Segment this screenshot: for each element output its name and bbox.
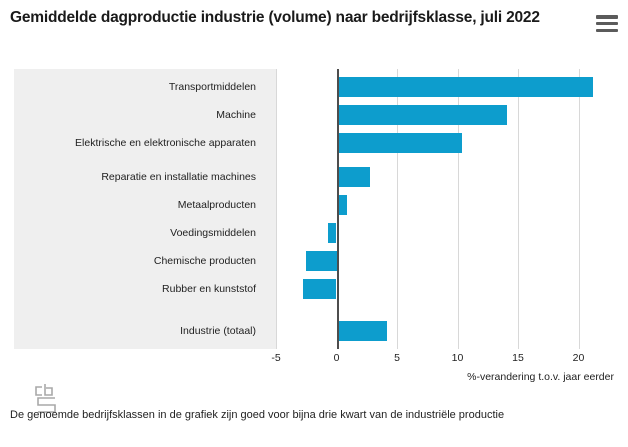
category-label: Chemische producten xyxy=(14,247,262,275)
bar-row: Transportmiddelen xyxy=(14,73,614,101)
bar[interactable] xyxy=(337,321,388,341)
bar-chart: TransportmiddelenMachineElektrische en e… xyxy=(14,69,614,349)
chart-page: Gemiddelde dagproductie industrie (volum… xyxy=(0,0,628,447)
bar-row: Metaalproducten xyxy=(14,191,614,219)
chart-header: Gemiddelde dagproductie industrie (volum… xyxy=(10,8,590,29)
zero-line xyxy=(337,69,339,349)
x-tick-label: 0 xyxy=(334,352,340,364)
bar[interactable] xyxy=(303,279,337,299)
x-tick-label: 5 xyxy=(394,352,400,364)
hamburger-menu-icon[interactable] xyxy=(596,15,618,32)
category-label: Elektrische en elektronische apparaten xyxy=(14,129,262,157)
bar[interactable] xyxy=(306,251,336,271)
bar-row: Chemische producten xyxy=(14,247,614,275)
bar[interactable] xyxy=(337,133,463,153)
x-axis-label: %-verandering t.o.v. jaar eerder xyxy=(467,371,614,383)
category-label: Reparatie en installatie machines xyxy=(14,163,262,191)
hamburger-line-3 xyxy=(596,29,618,33)
x-tick-label: -5 xyxy=(271,352,280,364)
hamburger-line-1 xyxy=(596,15,618,19)
bar-row: Machine xyxy=(14,101,614,129)
category-label: Voedingsmiddelen xyxy=(14,219,262,247)
x-tick-label: 20 xyxy=(573,352,585,364)
category-label: Transportmiddelen xyxy=(14,73,262,101)
x-tick-label: 10 xyxy=(452,352,464,364)
bar[interactable] xyxy=(328,223,336,243)
category-label: Machine xyxy=(14,101,262,129)
category-label: Rubber en kunststof xyxy=(14,275,262,303)
footnote: De genoemde bedrijfsklassen in de grafie… xyxy=(10,409,504,421)
x-tick-label: 15 xyxy=(512,352,524,364)
category-label: Industrie (totaal) xyxy=(14,317,262,345)
page-title: Gemiddelde dagproductie industrie (volum… xyxy=(10,8,590,29)
bar[interactable] xyxy=(337,105,508,125)
bar-row: Rubber en kunststof xyxy=(14,275,614,303)
hamburger-line-2 xyxy=(596,22,618,26)
x-axis-ticks: -50510152025 xyxy=(14,350,614,370)
bar-row: Voedingsmiddelen xyxy=(14,219,614,247)
bar-row: Reparatie en installatie machines xyxy=(14,163,614,191)
bar[interactable] xyxy=(337,77,594,97)
bar-row: Industrie (totaal) xyxy=(14,317,614,345)
bar-row: Elektrische en elektronische apparaten xyxy=(14,129,614,157)
category-label: Metaalproducten xyxy=(14,191,262,219)
bar[interactable] xyxy=(337,167,371,187)
